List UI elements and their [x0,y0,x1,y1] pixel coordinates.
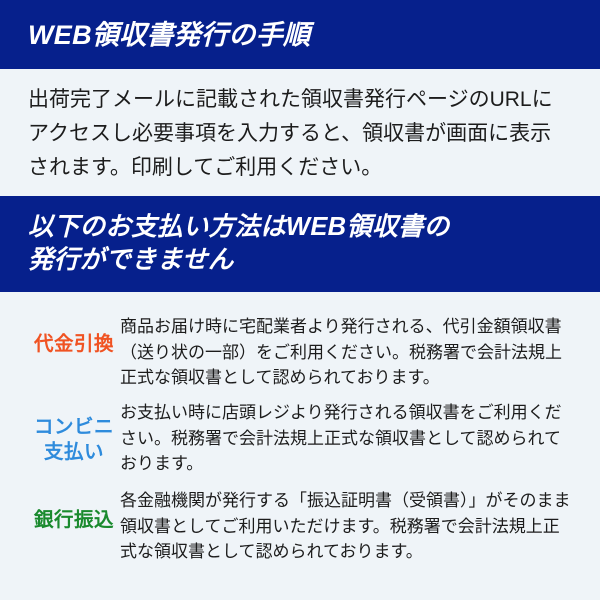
receipt-info-page: WEB領収書発行の手順 出荷完了メールに記載された領収書発行ページのURLに ア… [0,0,600,600]
payment-method-label-konbini: コンビニ 支払い [0,398,120,465]
list-item: コンビニ 支払い お支払い時に店頭レジより発行される領収書をご利用くだ さい。税… [0,398,600,486]
payment-method-description-cod: 商品お届け時に宅配業者より発行される、代引金額領収書 （送り状の一部）をご利用く… [120,312,586,391]
page-title: WEB領収書発行の手順 [0,20,600,50]
intro-paragraph: 出荷完了メールに記載された領収書発行ページのURLに アクセスし必要事項を入力す… [28,83,580,185]
payment-method-label-bank: 銀行振込 [0,486,120,533]
payment-method-description-bank: 各金融機関が発行する「振込証明書（受領書）」がそのまま 領収書としてご利用いただ… [120,486,586,565]
section-header-banner: 以下のお支払い方法はWEB領収書の 発行ができません [0,196,600,292]
list-item: 代金引換 商品お届け時に宅配業者より発行される、代引金額領収書 （送り状の一部）… [0,312,600,398]
section-title: 以下のお支払い方法はWEB領収書の 発行ができません [0,211,600,277]
payment-method-label-cod: 代金引換 [0,312,120,357]
payment-method-description-konbini: お支払い時に店頭レジより発行される領収書をご利用くだ さい。税務署で会計法規上正… [120,398,586,477]
payment-methods-list: 代金引換 商品お届け時に宅配業者より発行される、代引金額領収書 （送り状の一部）… [0,312,600,566]
main-header-banner: WEB領収書発行の手順 [0,0,600,69]
list-item: 銀行振込 各金融機関が発行する「振込証明書（受領書）」がそのまま 領収書としてご… [0,486,600,566]
